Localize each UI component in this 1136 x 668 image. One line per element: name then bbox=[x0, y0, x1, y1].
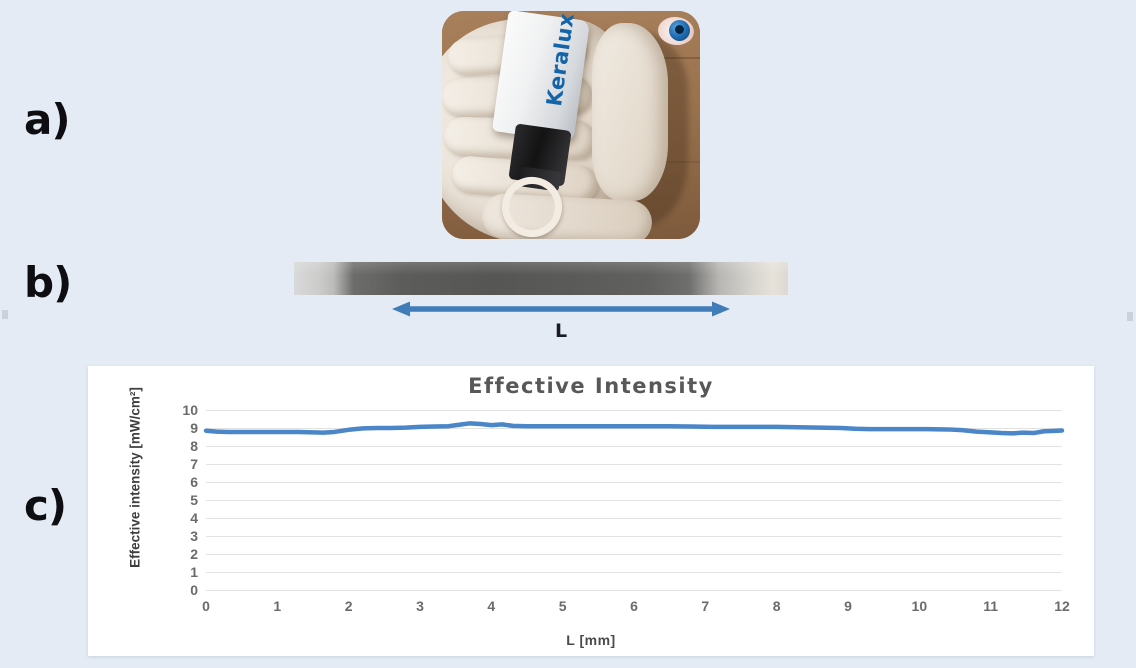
panel-label-c: c) bbox=[24, 485, 66, 527]
effective-intensity-chart: Effective Intensity Effective intensity … bbox=[88, 366, 1094, 656]
chart-x-tick: 7 bbox=[701, 598, 709, 614]
fingertips bbox=[592, 23, 668, 201]
edge-artifact-right bbox=[1127, 312, 1133, 321]
chart-x-tick: 3 bbox=[416, 598, 424, 614]
chart-y-tick: 6 bbox=[190, 474, 198, 490]
chart-x-tick: 4 bbox=[487, 598, 495, 614]
device-photograph: Keralux bbox=[442, 11, 700, 239]
chart-y-tick: 9 bbox=[190, 420, 198, 436]
chart-x-tick: 0 bbox=[202, 598, 210, 614]
chart-y-tick: 4 bbox=[190, 510, 198, 526]
chart-x-tick: 6 bbox=[630, 598, 638, 614]
chart-y-tick: 1 bbox=[190, 564, 198, 580]
chart-x-tick: 5 bbox=[559, 598, 567, 614]
chart-y-tick: 7 bbox=[190, 456, 198, 472]
chart-y-tick: 8 bbox=[190, 438, 198, 454]
length-double-arrow-icon bbox=[392, 300, 730, 318]
illuminated-strip bbox=[294, 262, 788, 295]
chart-y-tick: 0 bbox=[190, 582, 198, 598]
chart-x-tick: 12 bbox=[1054, 598, 1070, 614]
length-arrow-label: L bbox=[392, 320, 730, 342]
chart-y-tick: 2 bbox=[190, 546, 198, 562]
chart-y-tick: 5 bbox=[190, 492, 198, 508]
chart-x-tick: 1 bbox=[273, 598, 281, 614]
chart-x-tick: 9 bbox=[844, 598, 852, 614]
chart-gridline bbox=[206, 590, 1062, 591]
panel-label-b: b) bbox=[24, 262, 71, 304]
device-brand-label: Keralux bbox=[540, 11, 580, 121]
panel-label-a: a) bbox=[24, 99, 70, 141]
chart-y-tick: 3 bbox=[190, 528, 198, 544]
chart-x-tick: 8 bbox=[773, 598, 781, 614]
chart-y-tick: 10 bbox=[182, 402, 198, 418]
eye-pupil-icon bbox=[675, 25, 684, 34]
chart-x-tick: 10 bbox=[912, 598, 928, 614]
chart-title: Effective Intensity bbox=[88, 374, 1094, 398]
chart-series-line bbox=[206, 410, 1062, 590]
chart-x-tick: 11 bbox=[983, 598, 998, 614]
device-body: Keralux bbox=[492, 11, 590, 142]
chart-x-tick: 2 bbox=[345, 598, 353, 614]
edge-artifact-left bbox=[2, 310, 8, 319]
chart-plot-area: 012345678910 0123456789101112 bbox=[206, 410, 1062, 590]
chart-y-axis-label: Effective intensity [mW/cm²] bbox=[128, 385, 143, 571]
chart-x-axis-label: L [mm] bbox=[88, 632, 1094, 648]
